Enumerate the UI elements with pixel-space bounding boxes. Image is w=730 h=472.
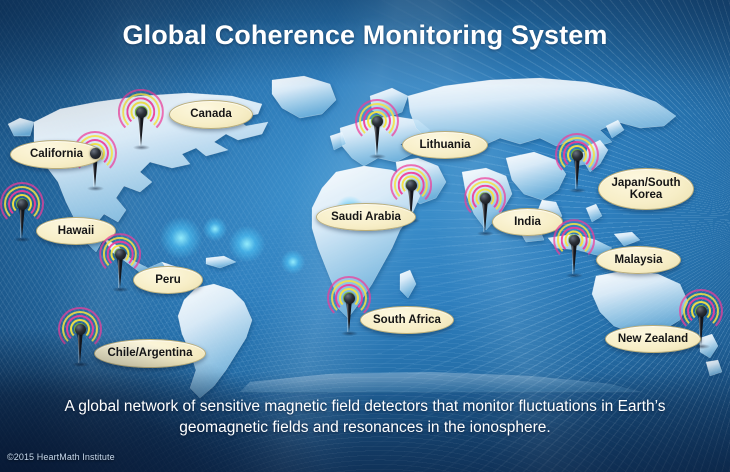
tower-dome (136, 107, 147, 118)
tower-dome (344, 293, 355, 304)
tower-dome (696, 306, 707, 317)
poster-canvas: CanadaCaliforniaHawaiiPeruChile/Argentin… (0, 0, 730, 472)
tower-dome (480, 193, 491, 204)
tower-dome (90, 148, 101, 159)
page-title: Global Coherence Monitoring System (0, 20, 730, 51)
tower-dome (17, 199, 28, 210)
caption-text: A global network of sensitive magnetic f… (40, 396, 690, 438)
tower-dome (406, 180, 417, 191)
tower-dome (115, 249, 126, 260)
tower-dome (372, 116, 383, 127)
tower-dome (75, 324, 86, 335)
copyright-notice: ©2015 HeartMath Institute (7, 452, 115, 462)
tower-dome (569, 235, 580, 246)
tower-dome (572, 150, 583, 161)
